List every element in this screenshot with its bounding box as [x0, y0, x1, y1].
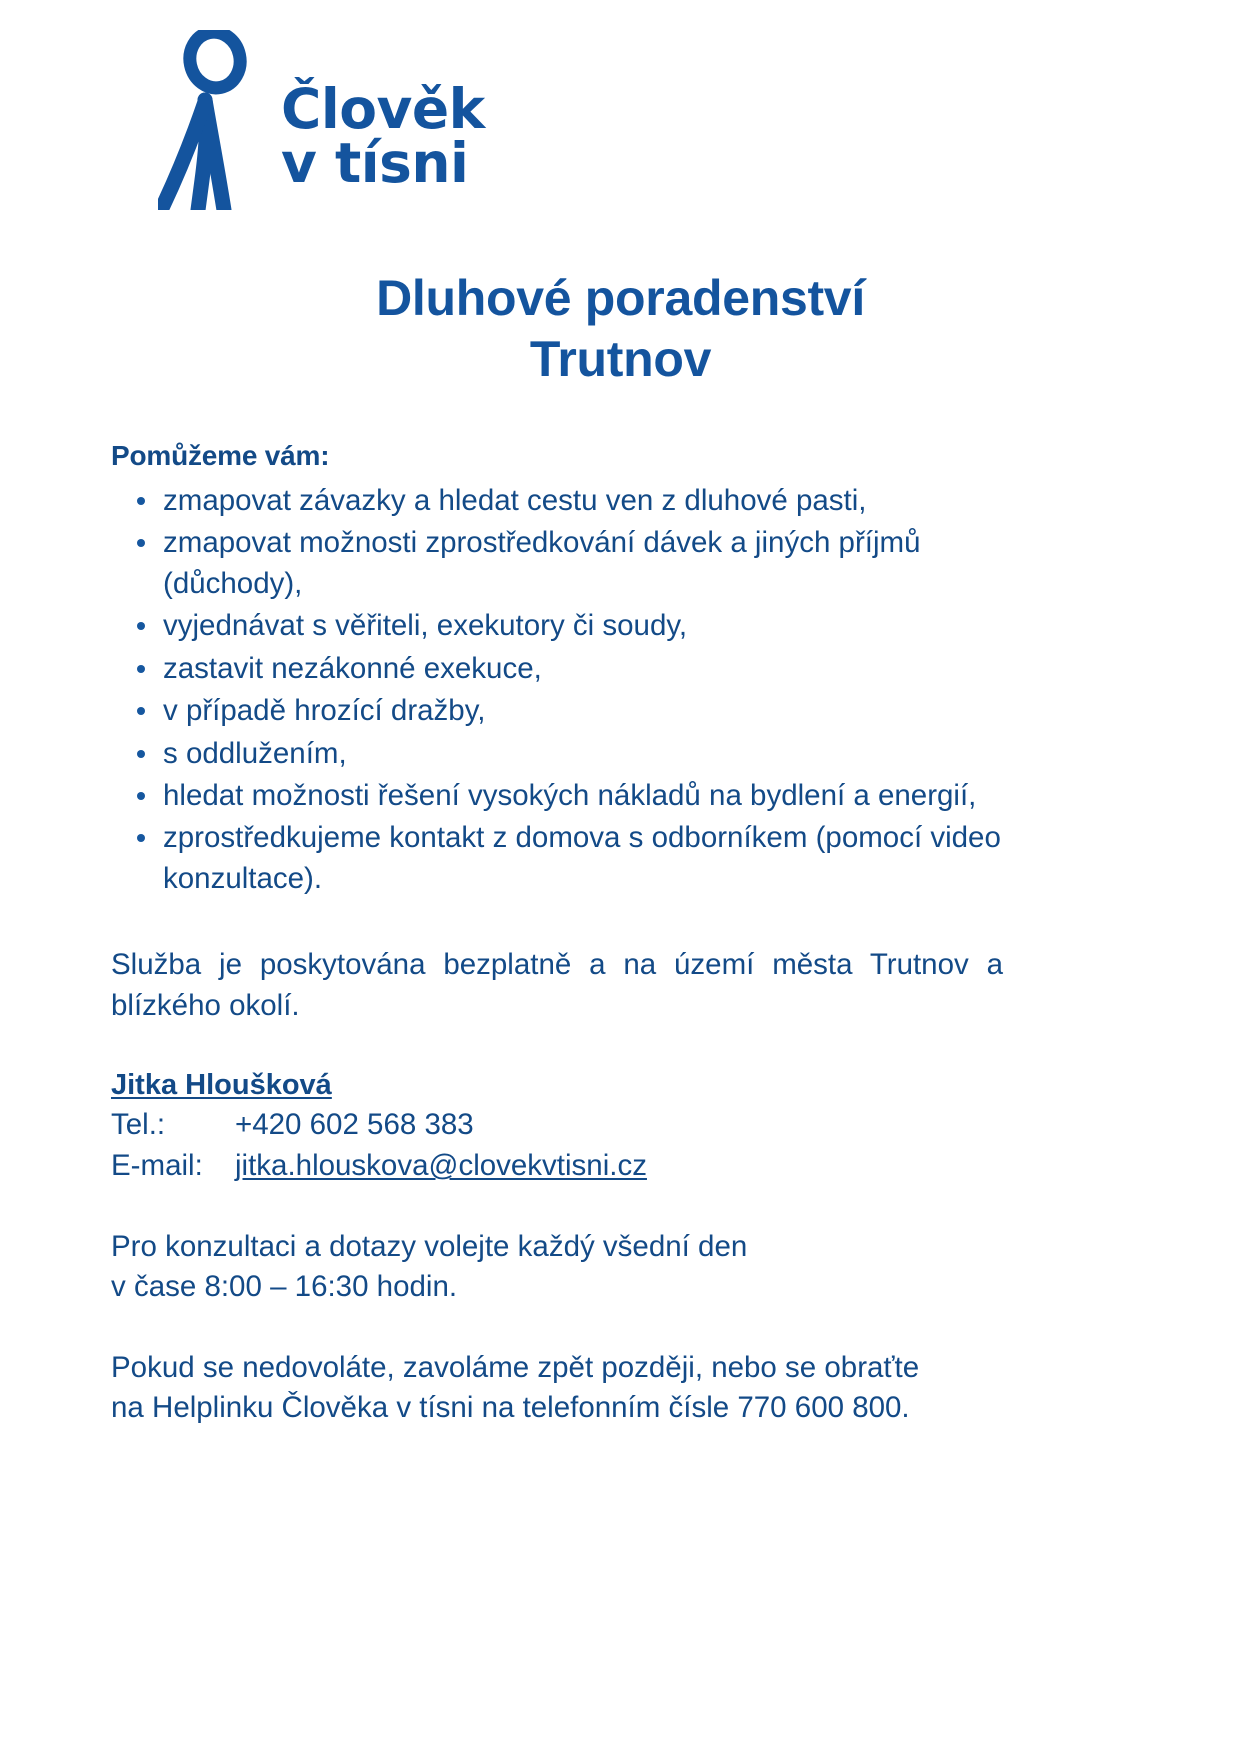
spacer	[111, 901, 1003, 945]
list-item: zprostředkujeme kontakt z domova s odbor…	[111, 818, 1003, 899]
list-item: zmapovat závazky a hledat cestu ven z dl…	[111, 481, 1003, 521]
availability-text: Služba je poskytována bezplatně a na úze…	[111, 945, 1003, 1026]
spacer	[111, 1308, 1003, 1348]
person-figure-logo-icon	[158, 30, 263, 210]
contact-phone-row: Tel.: +420 602 568 383	[111, 1105, 1003, 1146]
list-item: s oddlužením,	[111, 734, 1003, 774]
poster-page: Člověk v tísni Dluhové poradenství Trutn…	[0, 0, 1241, 1755]
list-item-label: zmapovat závazky a hledat cestu ven z dl…	[163, 484, 866, 517]
contact-email-row: E-mail: jitka.hlouskova@clovekvtisni.cz	[111, 1146, 1003, 1187]
list-item: zmapovat možnosti zprostředkování dávek …	[111, 523, 1003, 604]
callback-line2: na Helplinku Člověka v tísni na telefonn…	[111, 1388, 1003, 1428]
bullet-icon	[137, 707, 145, 715]
organization-name-line1: Člověk	[281, 82, 485, 136]
list-item-label: vyjednávat s věřiteli, exekutory či soud…	[163, 609, 687, 642]
bullet-icon	[137, 497, 145, 505]
list-item: zastavit nezákonné exekuce,	[111, 649, 1003, 689]
list-item-label: zmapovat možnosti zprostředkování dávek …	[163, 526, 921, 599]
list-item-label: zastavit nezákonné exekuce,	[163, 652, 542, 685]
callback-line1: Pokud se nedovoláte, zavoláme zpět pozdě…	[111, 1348, 1003, 1388]
list-item-label: v případě hrozící dražby,	[163, 694, 485, 727]
list-item: hledat možnosti řešení vysokých nákladů …	[111, 776, 1003, 816]
hours-line2: v čase 8:00 – 16:30 hodin.	[111, 1267, 1003, 1307]
contact-phone-label: Tel.:	[111, 1105, 235, 1146]
organization-logo: Člověk v tísni	[158, 30, 485, 210]
spacer	[111, 1187, 1003, 1227]
list-item: vyjednávat s věřiteli, exekutory či soud…	[111, 606, 1003, 646]
page-title: Dluhové poradenství Trutnov	[0, 268, 1241, 390]
list-item: v případě hrozící dražby,	[111, 691, 1003, 731]
bullet-icon	[137, 834, 145, 842]
list-item-label: hledat možnosti řešení vysokých nákladů …	[163, 776, 1003, 816]
organization-name-line2: v tísni	[281, 136, 485, 190]
contact-person-name: Jitka Hloušková	[111, 1066, 1003, 1105]
bullet-icon	[137, 622, 145, 630]
services-lead: Pomůžeme vám:	[111, 437, 1003, 475]
list-item-label: zprostředkujeme kontakt z domova s odbor…	[163, 821, 1001, 894]
bullet-icon	[137, 750, 145, 758]
poster-body: Pomůžeme vám: zmapovat závazky a hledat …	[111, 437, 1003, 1428]
hours-line1: Pro konzultaci a dotazy volejte každý vš…	[111, 1227, 1003, 1267]
list-item-label: s oddlužením,	[163, 737, 347, 770]
contact-email-link[interactable]: jitka.hlouskova@clovekvtisni.cz	[235, 1146, 647, 1187]
page-title-line1: Dluhové poradenství	[376, 270, 865, 326]
services-list: zmapovat závazky a hledat cestu ven z dl…	[111, 481, 1003, 899]
page-title-line2: Trutnov	[0, 329, 1241, 390]
contact-email-label: E-mail:	[111, 1146, 235, 1187]
bullet-icon	[137, 792, 145, 800]
spacer	[111, 1026, 1003, 1066]
bullet-icon	[137, 665, 145, 673]
organization-name: Člověk v tísni	[281, 82, 485, 191]
bullet-icon	[137, 539, 145, 547]
contact-phone-value[interactable]: +420 602 568 383	[235, 1105, 474, 1146]
